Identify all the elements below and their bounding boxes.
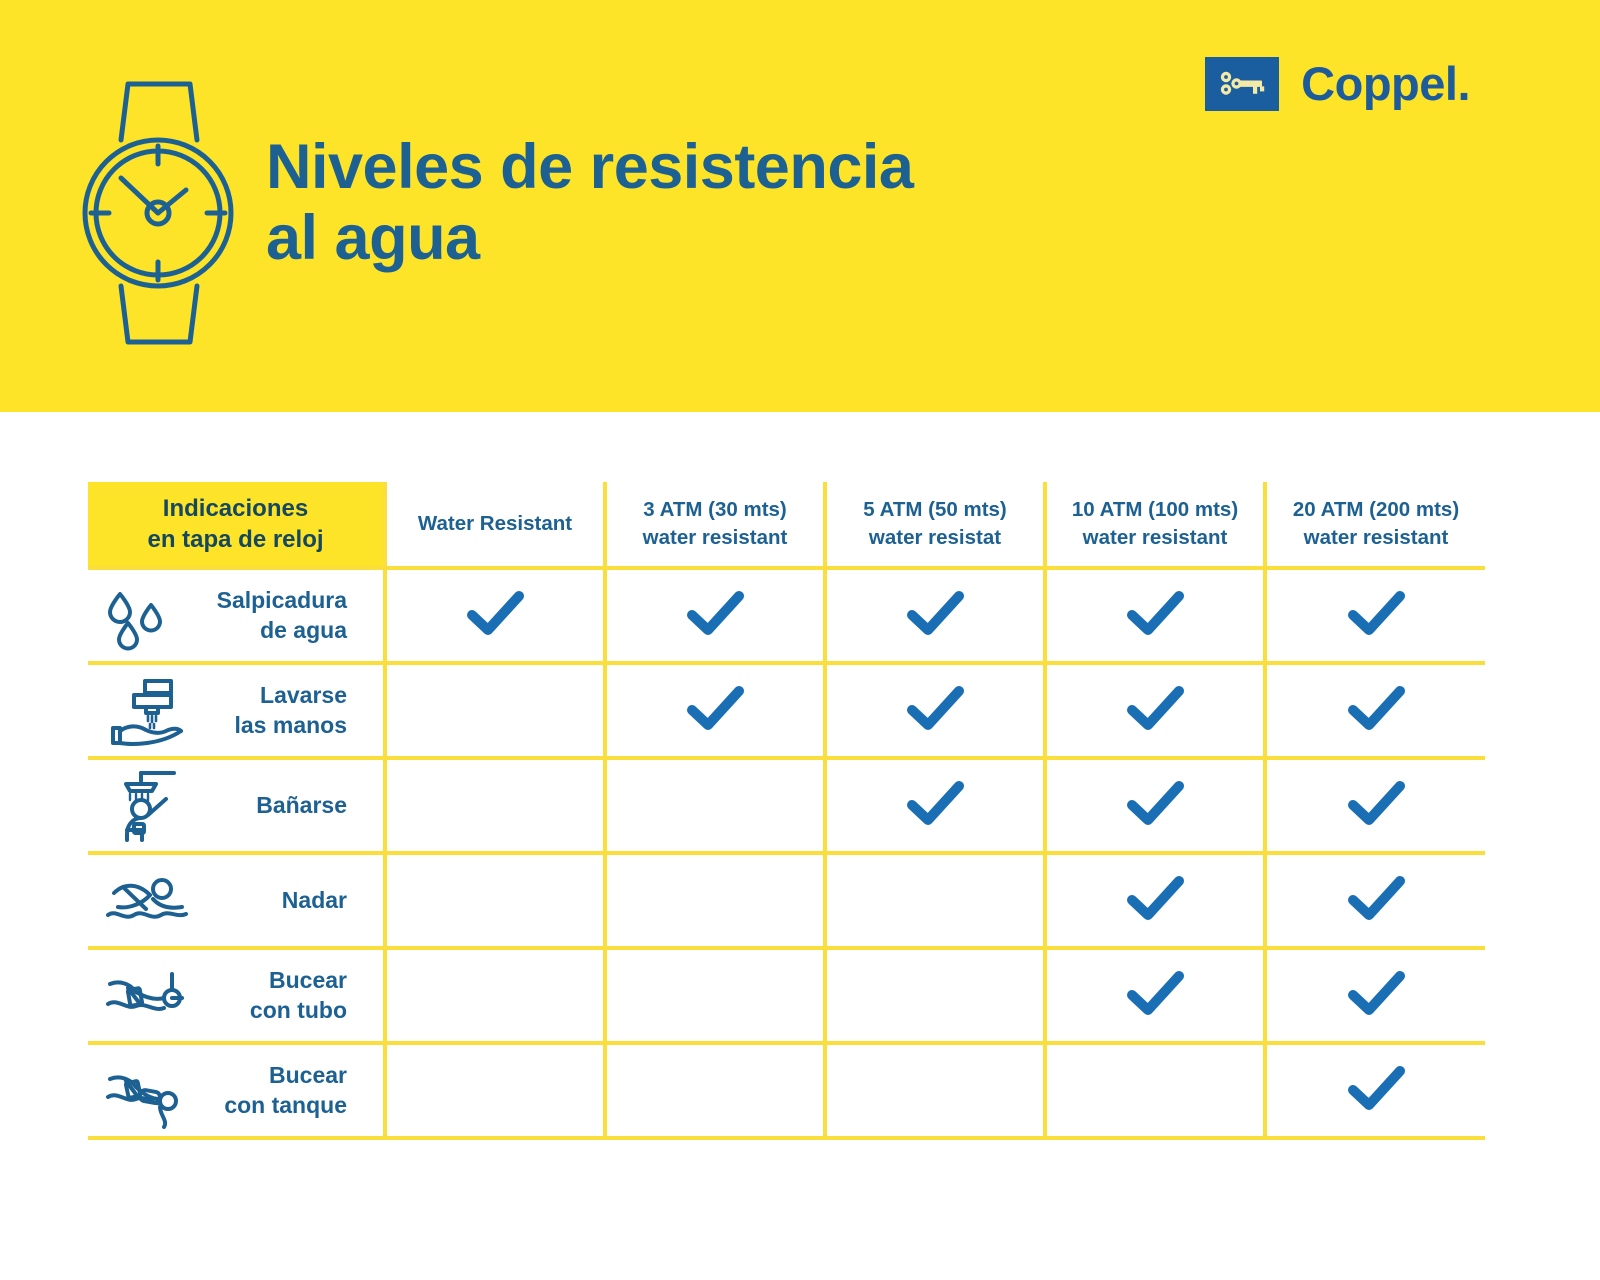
- check-icon: [1124, 589, 1186, 637]
- check-icon: [904, 779, 966, 827]
- wristwatch-icon: [58, 68, 258, 358]
- cell-check: [1265, 758, 1485, 853]
- column-header-line1: 5 ATM (50 mts): [833, 496, 1037, 524]
- check-icon: [1345, 589, 1407, 637]
- check-icon: [1345, 1064, 1407, 1112]
- cell-check: [1265, 663, 1485, 758]
- cell-check: [1045, 758, 1265, 853]
- page-title: Niveles de resistencia al agua: [266, 132, 1166, 274]
- key-icon: [1205, 57, 1279, 111]
- check-icon: [1345, 684, 1407, 732]
- cell-check: [385, 758, 605, 853]
- indications-header: Indicaciones en tapa de reloj: [88, 482, 385, 568]
- row-label-line2: con tanque: [204, 1091, 347, 1120]
- cell-check: [825, 758, 1045, 853]
- row-indication: Salpicadura de agua: [88, 568, 385, 663]
- cell-check: [1045, 948, 1265, 1043]
- column-header-5atm: 5 ATM (50 mts) water resistat: [825, 482, 1045, 568]
- water-drops-icon: [98, 578, 194, 654]
- row-label-line1: Bucear: [269, 967, 347, 993]
- check-icon: [684, 589, 746, 637]
- check-icon: [464, 589, 526, 637]
- table-row: Salpicadura de agua: [88, 568, 1485, 663]
- table-row: Nadar: [88, 853, 1485, 948]
- indications-header-line2: en tapa de reloj: [147, 526, 323, 553]
- row-label: Bucear con tubo: [204, 966, 369, 1025]
- row-indication: Bañarse: [88, 758, 385, 853]
- row-label-line2: con tubo: [204, 996, 347, 1025]
- row-label-line1: Bucear: [269, 1062, 347, 1088]
- cell-check: [825, 663, 1045, 758]
- shower-bathing-icon: [98, 768, 194, 844]
- cell-check: [825, 568, 1045, 663]
- column-header-line2: water resistant: [613, 524, 817, 552]
- table-row: Bucear con tanque: [88, 1043, 1485, 1138]
- row-label-line1: Salpicadura: [217, 587, 347, 613]
- cell-check: [1265, 568, 1485, 663]
- column-header-line2: water resistat: [833, 524, 1037, 552]
- row-label: Salpicadura de agua: [204, 586, 369, 645]
- column-header-line2: water resistant: [1053, 524, 1257, 552]
- check-icon: [1124, 874, 1186, 922]
- column-header-20atm: 20 ATM (200 mts) water resistant: [1265, 482, 1485, 568]
- check-icon: [1124, 969, 1186, 1017]
- resistance-table: Indicaciones en tapa de reloj Water Resi…: [88, 482, 1482, 1140]
- infographic-page: Niveles de resistencia al agua: [0, 0, 1600, 1280]
- scuba-tank-diver-icon: [98, 1053, 194, 1129]
- table-header: Indicaciones en tapa de reloj Water Resi…: [88, 482, 1485, 568]
- cell-check: [1265, 853, 1485, 948]
- row-indication: Lavarse las manos: [88, 663, 385, 758]
- check-icon: [1124, 779, 1186, 827]
- cell-check: [385, 948, 605, 1043]
- cell-check: [825, 1043, 1045, 1138]
- cell-check: [605, 663, 825, 758]
- swimmer-icon: [98, 863, 194, 939]
- cell-check: [1265, 1043, 1485, 1138]
- cell-check: [1045, 568, 1265, 663]
- row-label-line2: de agua: [204, 616, 347, 645]
- snorkel-diver-icon: [98, 958, 194, 1034]
- row-label-line1: Nadar: [282, 887, 347, 913]
- brand-logo: Coppel.: [1205, 56, 1470, 111]
- cell-check: [825, 948, 1045, 1043]
- row-indication: Bucear con tanque: [88, 1043, 385, 1138]
- row-label: Nadar: [204, 886, 369, 915]
- check-icon: [1345, 779, 1407, 827]
- row-indication: Nadar: [88, 853, 385, 948]
- cell-check: [1265, 948, 1485, 1043]
- table-row: Bañarse: [88, 758, 1485, 853]
- check-icon: [684, 684, 746, 732]
- check-icon: [904, 684, 966, 732]
- cell-check: [385, 663, 605, 758]
- brand-wordmark: Coppel.: [1301, 56, 1470, 111]
- cell-check: [605, 948, 825, 1043]
- column-header-line2: water resistant: [1273, 524, 1479, 552]
- row-label: Lavarse las manos: [204, 681, 369, 740]
- table-row: Lavarse las manos: [88, 663, 1485, 758]
- cell-check: [385, 1043, 605, 1138]
- row-label-line1: Lavarse: [260, 682, 347, 708]
- check-icon: [1345, 969, 1407, 1017]
- row-label-line1: Bañarse: [256, 792, 347, 818]
- check-icon: [1345, 874, 1407, 922]
- resistance-grid: Indicaciones en tapa de reloj Water Resi…: [88, 482, 1485, 1140]
- column-header-water-resistant: Water Resistant: [385, 482, 605, 568]
- row-indication: Bucear con tubo: [88, 948, 385, 1043]
- row-label: Bañarse: [204, 791, 369, 820]
- cell-check: [605, 568, 825, 663]
- cell-check: [605, 758, 825, 853]
- check-icon: [1124, 684, 1186, 732]
- page-title-line1: Niveles de resistencia: [266, 132, 913, 202]
- row-label: Bucear con tanque: [204, 1061, 369, 1120]
- cell-check: [1045, 1043, 1265, 1138]
- cell-check: [1045, 853, 1265, 948]
- column-header-3atm: 3 ATM (30 mts) water resistant: [605, 482, 825, 568]
- cell-check: [1045, 663, 1265, 758]
- row-label-line2: las manos: [204, 711, 347, 740]
- column-header-line1: 20 ATM (200 mts): [1273, 496, 1479, 524]
- cell-check: [385, 568, 605, 663]
- column-header-line1: Water Resistant: [393, 510, 597, 538]
- cell-check: [605, 853, 825, 948]
- column-header-line1: 10 ATM (100 mts): [1053, 496, 1257, 524]
- indications-header-line1: Indicaciones: [163, 495, 308, 522]
- table-body: Salpicadura de agua: [88, 568, 1485, 1138]
- header-band: Niveles de resistencia al agua: [0, 0, 1600, 412]
- table-row: Bucear con tubo: [88, 948, 1485, 1043]
- cell-check: [385, 853, 605, 948]
- check-icon: [904, 589, 966, 637]
- handwashing-faucet-icon: [98, 673, 194, 749]
- cell-check: [605, 1043, 825, 1138]
- column-header-line1: 3 ATM (30 mts): [613, 496, 817, 524]
- cell-check: [825, 853, 1045, 948]
- page-title-line2: al agua: [266, 203, 1166, 274]
- column-header-10atm: 10 ATM (100 mts) water resistant: [1045, 482, 1265, 568]
